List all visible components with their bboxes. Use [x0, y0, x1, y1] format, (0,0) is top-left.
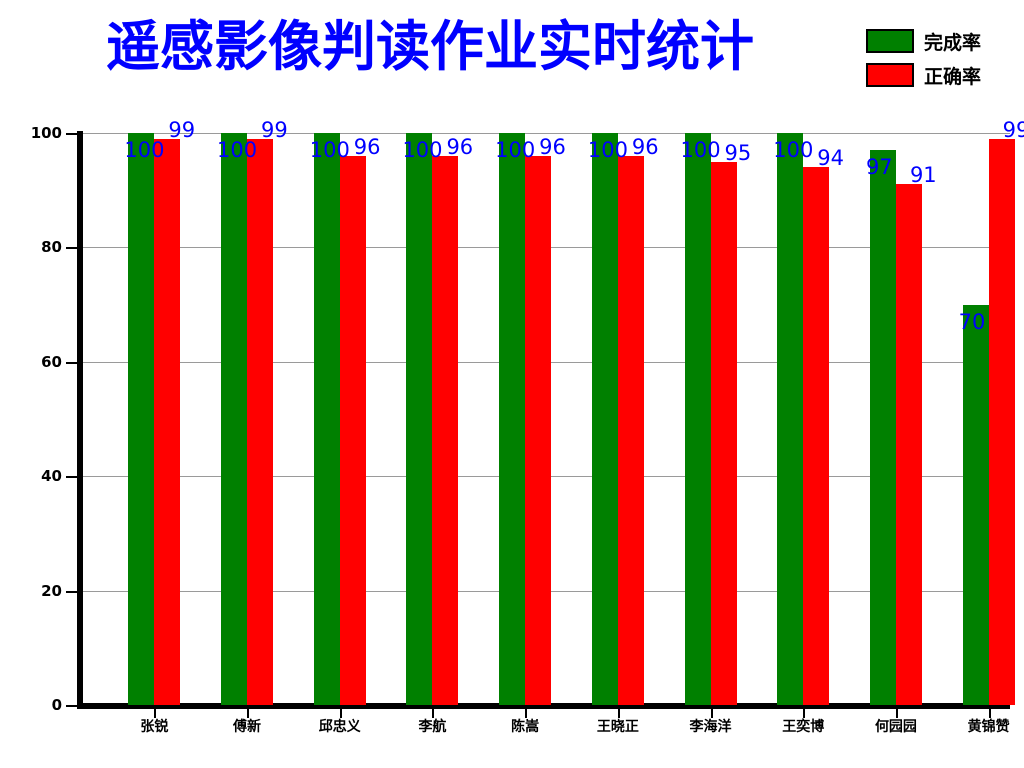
bar-accuracy[interactable] [711, 162, 737, 705]
x-category-label: 王晓正 [573, 716, 663, 736]
x-category-label: 何园园 [851, 716, 941, 736]
y-tick-mark [66, 362, 78, 364]
bar-value-label-accuracy: 95 [725, 143, 752, 164]
bar-value-label-accuracy: 96 [354, 137, 381, 158]
bar-accuracy[interactable] [432, 156, 458, 705]
y-tick-mark [66, 705, 78, 707]
bar-accuracy[interactable] [247, 139, 273, 705]
bar-completion[interactable] [221, 133, 247, 705]
bar-completion[interactable] [963, 305, 989, 705]
y-tick-mark [66, 591, 78, 593]
legend-item-completion: 完成率 [866, 24, 1016, 58]
bar-value-label-accuracy: 99 [1003, 120, 1024, 141]
plot-area: 1009910099100961009610096100961009510094… [83, 133, 1010, 705]
red-square-swatch [866, 63, 914, 87]
bar-value-label-accuracy: 96 [539, 137, 566, 158]
bar-value-label-accuracy: 96 [446, 137, 473, 158]
bar-accuracy[interactable] [525, 156, 551, 705]
y-tick-mark [66, 476, 78, 478]
x-category-label: 张锐 [109, 716, 199, 736]
bar-accuracy[interactable] [803, 167, 829, 705]
x-category-label: 李海洋 [666, 716, 756, 736]
bar-completion[interactable] [314, 133, 340, 705]
legend-item-accuracy: 正确率 [866, 58, 1016, 92]
bar-completion[interactable] [406, 133, 432, 705]
bar-group: 10094 [777, 133, 829, 705]
chart-legend: 完成率 正确率 [866, 24, 1016, 92]
bar-accuracy[interactable] [154, 139, 180, 705]
bar-group: 10095 [685, 133, 737, 705]
bar-group: 10099 [128, 133, 180, 705]
bar-value-label-completion: 100 [495, 140, 535, 161]
bar-value-label-accuracy: 94 [817, 148, 844, 169]
bar-value-label-completion: 100 [773, 140, 813, 161]
x-category-label: 陈嵩 [480, 716, 570, 736]
bar-group: 10099 [221, 133, 273, 705]
bar-value-label-accuracy: 91 [910, 165, 937, 186]
bar-completion[interactable] [777, 133, 803, 705]
bar-value-label-completion: 100 [310, 140, 350, 161]
bar-group: 9791 [870, 133, 922, 705]
legend-item-label: 完成率 [924, 28, 981, 55]
x-category-label: 黄锦赞 [944, 716, 1024, 736]
bar-value-label-accuracy: 99 [261, 120, 288, 141]
x-category-label: 王奕博 [758, 716, 848, 736]
bar-value-label-completion: 100 [681, 140, 721, 161]
bar-completion[interactable] [592, 133, 618, 705]
bar-value-label-accuracy: 99 [168, 120, 195, 141]
bar-completion[interactable] [499, 133, 525, 705]
y-tick-label: 40 [10, 467, 62, 485]
x-category-label: 傅新 [202, 716, 292, 736]
bar-group: 10096 [314, 133, 366, 705]
bar-value-label-completion: 100 [124, 140, 164, 161]
bar-group: 10096 [592, 133, 644, 705]
bar-value-label-completion: 100 [217, 140, 257, 161]
y-tick-mark [66, 247, 78, 249]
x-category-label: 邱忠义 [295, 716, 385, 736]
bar-accuracy[interactable] [340, 156, 366, 705]
chart-header: 遥感影像判读作业实时统计 完成率 正确率 [0, 0, 1024, 118]
bar-group: 10096 [499, 133, 551, 705]
bar-value-label-completion: 70 [959, 312, 986, 333]
bar-value-label-accuracy: 96 [632, 137, 659, 158]
bar-accuracy[interactable] [896, 184, 922, 705]
y-tick-mark [66, 133, 78, 135]
y-tick-label: 80 [10, 238, 62, 256]
green-square-swatch [866, 29, 914, 53]
page-title: 遥感影像判读作业实时统计 [0, 16, 860, 78]
bar-value-label-completion: 100 [402, 140, 442, 161]
bar-completion[interactable] [870, 150, 896, 705]
bar-value-label-completion: 100 [588, 140, 628, 161]
y-tick-label: 20 [10, 582, 62, 600]
y-tick-label: 100 [10, 124, 62, 142]
x-category-label: 李航 [387, 716, 477, 736]
bar-group: 7099 [963, 133, 1015, 705]
y-tick-label: 0 [10, 696, 62, 714]
legend-item-label: 正确率 [924, 62, 981, 89]
bar-completion[interactable] [128, 133, 154, 705]
bar-group: 10096 [406, 133, 458, 705]
bar-value-label-completion: 97 [866, 157, 893, 178]
y-tick-label: 60 [10, 353, 62, 371]
bar-completion[interactable] [685, 133, 711, 705]
bar-accuracy[interactable] [989, 139, 1015, 705]
bar-accuracy[interactable] [618, 156, 644, 705]
